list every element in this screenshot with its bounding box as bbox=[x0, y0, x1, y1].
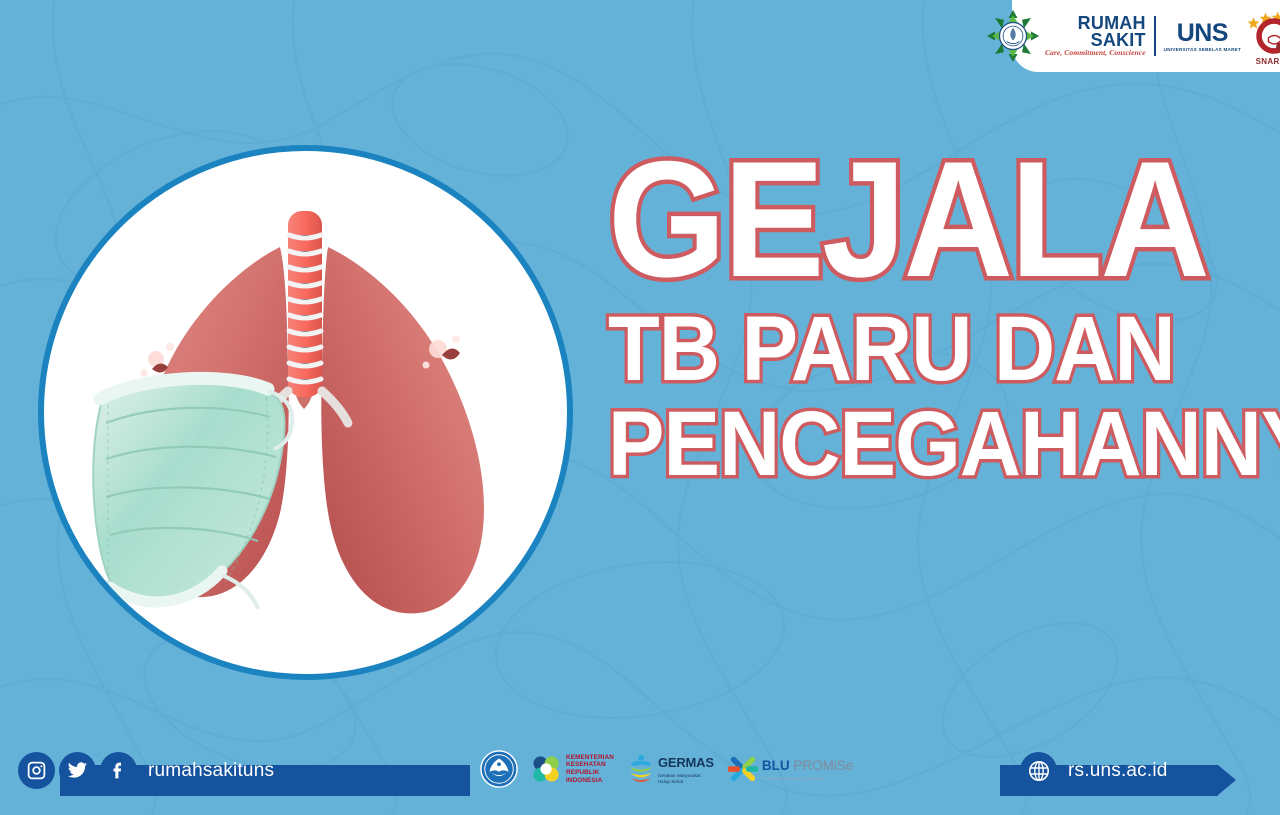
globe-icon[interactable] bbox=[1020, 752, 1057, 789]
surgical-mask-icon bbox=[93, 378, 292, 609]
university-abbr: UNS bbox=[1177, 21, 1228, 46]
headline-line-3: PENCEGAHANNYA bbox=[608, 406, 1215, 483]
social-handle: rumahsakituns bbox=[148, 760, 274, 782]
germas-label: GERMAS Gerakan MasyarakatHidup Sehat bbox=[658, 754, 714, 784]
lung-right-shape bbox=[321, 247, 484, 613]
snars-label: SNARS 1 bbox=[1246, 57, 1280, 66]
kemenkes-label: KEMENTERIANKESEHATANREPUBLIKINDONESIA bbox=[566, 754, 614, 784]
headline-block: GEJALA TB PARU DAN PENCEGAHANNYA bbox=[608, 150, 1268, 483]
promise-word: PROMiSe bbox=[793, 758, 853, 773]
kemenkes-logo: KEMENTERIANKESEHATANREPUBLIKINDONESIA bbox=[532, 754, 614, 784]
instagram-icon[interactable] bbox=[18, 752, 55, 789]
partner-logos: KEMENTERIANKESEHATANREPUBLIKINDONESIA GE… bbox=[480, 750, 853, 788]
header-logo-tab: RUMAH SAKIT Care, Commitment, Conscience… bbox=[1012, 0, 1280, 72]
blu-promise-sub: Professional Integrity Sincerity bbox=[762, 776, 854, 781]
university-block: UNS UNIVERSITAS SEBELAS MARET bbox=[1164, 21, 1241, 52]
twitter-icon[interactable] bbox=[59, 752, 96, 789]
website-url: rs.uns.ac.id bbox=[1068, 760, 1168, 782]
website-bar-arrow bbox=[1218, 765, 1236, 795]
hospital-tagline: Care, Commitment, Conscience bbox=[1045, 50, 1146, 57]
bunga-teratai-icon bbox=[986, 9, 1040, 63]
social-links bbox=[18, 752, 137, 789]
lungs-icon bbox=[44, 151, 567, 674]
logo-divider bbox=[1154, 16, 1156, 56]
hospital-name-block: RUMAH SAKIT Care, Commitment, Conscience bbox=[1045, 15, 1146, 57]
tut-wuri-handayani-logo bbox=[480, 750, 518, 788]
headline-line-2: TB PARU DAN bbox=[608, 311, 1215, 388]
headline-line-1: GEJALA bbox=[608, 150, 1215, 289]
blu-promise-label: BLU PROMiSe Professional Integrity Since… bbox=[762, 757, 854, 781]
blu-word: BLU bbox=[762, 758, 790, 773]
germas-logo: GERMAS Gerakan MasyarakatHidup Sehat bbox=[628, 754, 714, 784]
facebook-icon[interactable] bbox=[100, 752, 137, 789]
snars-quality-icon: SNARS 1 bbox=[1246, 7, 1280, 65]
hero-lung-circle bbox=[38, 145, 573, 680]
hospital-line2: SAKIT bbox=[1091, 32, 1146, 49]
blu-promise-logo: BLU PROMiSe Professional Integrity Since… bbox=[728, 754, 854, 784]
poster-root: RUMAH SAKIT Care, Commitment, Conscience… bbox=[0, 0, 1280, 815]
university-full: UNIVERSITAS SEBELAS MARET bbox=[1164, 47, 1241, 52]
